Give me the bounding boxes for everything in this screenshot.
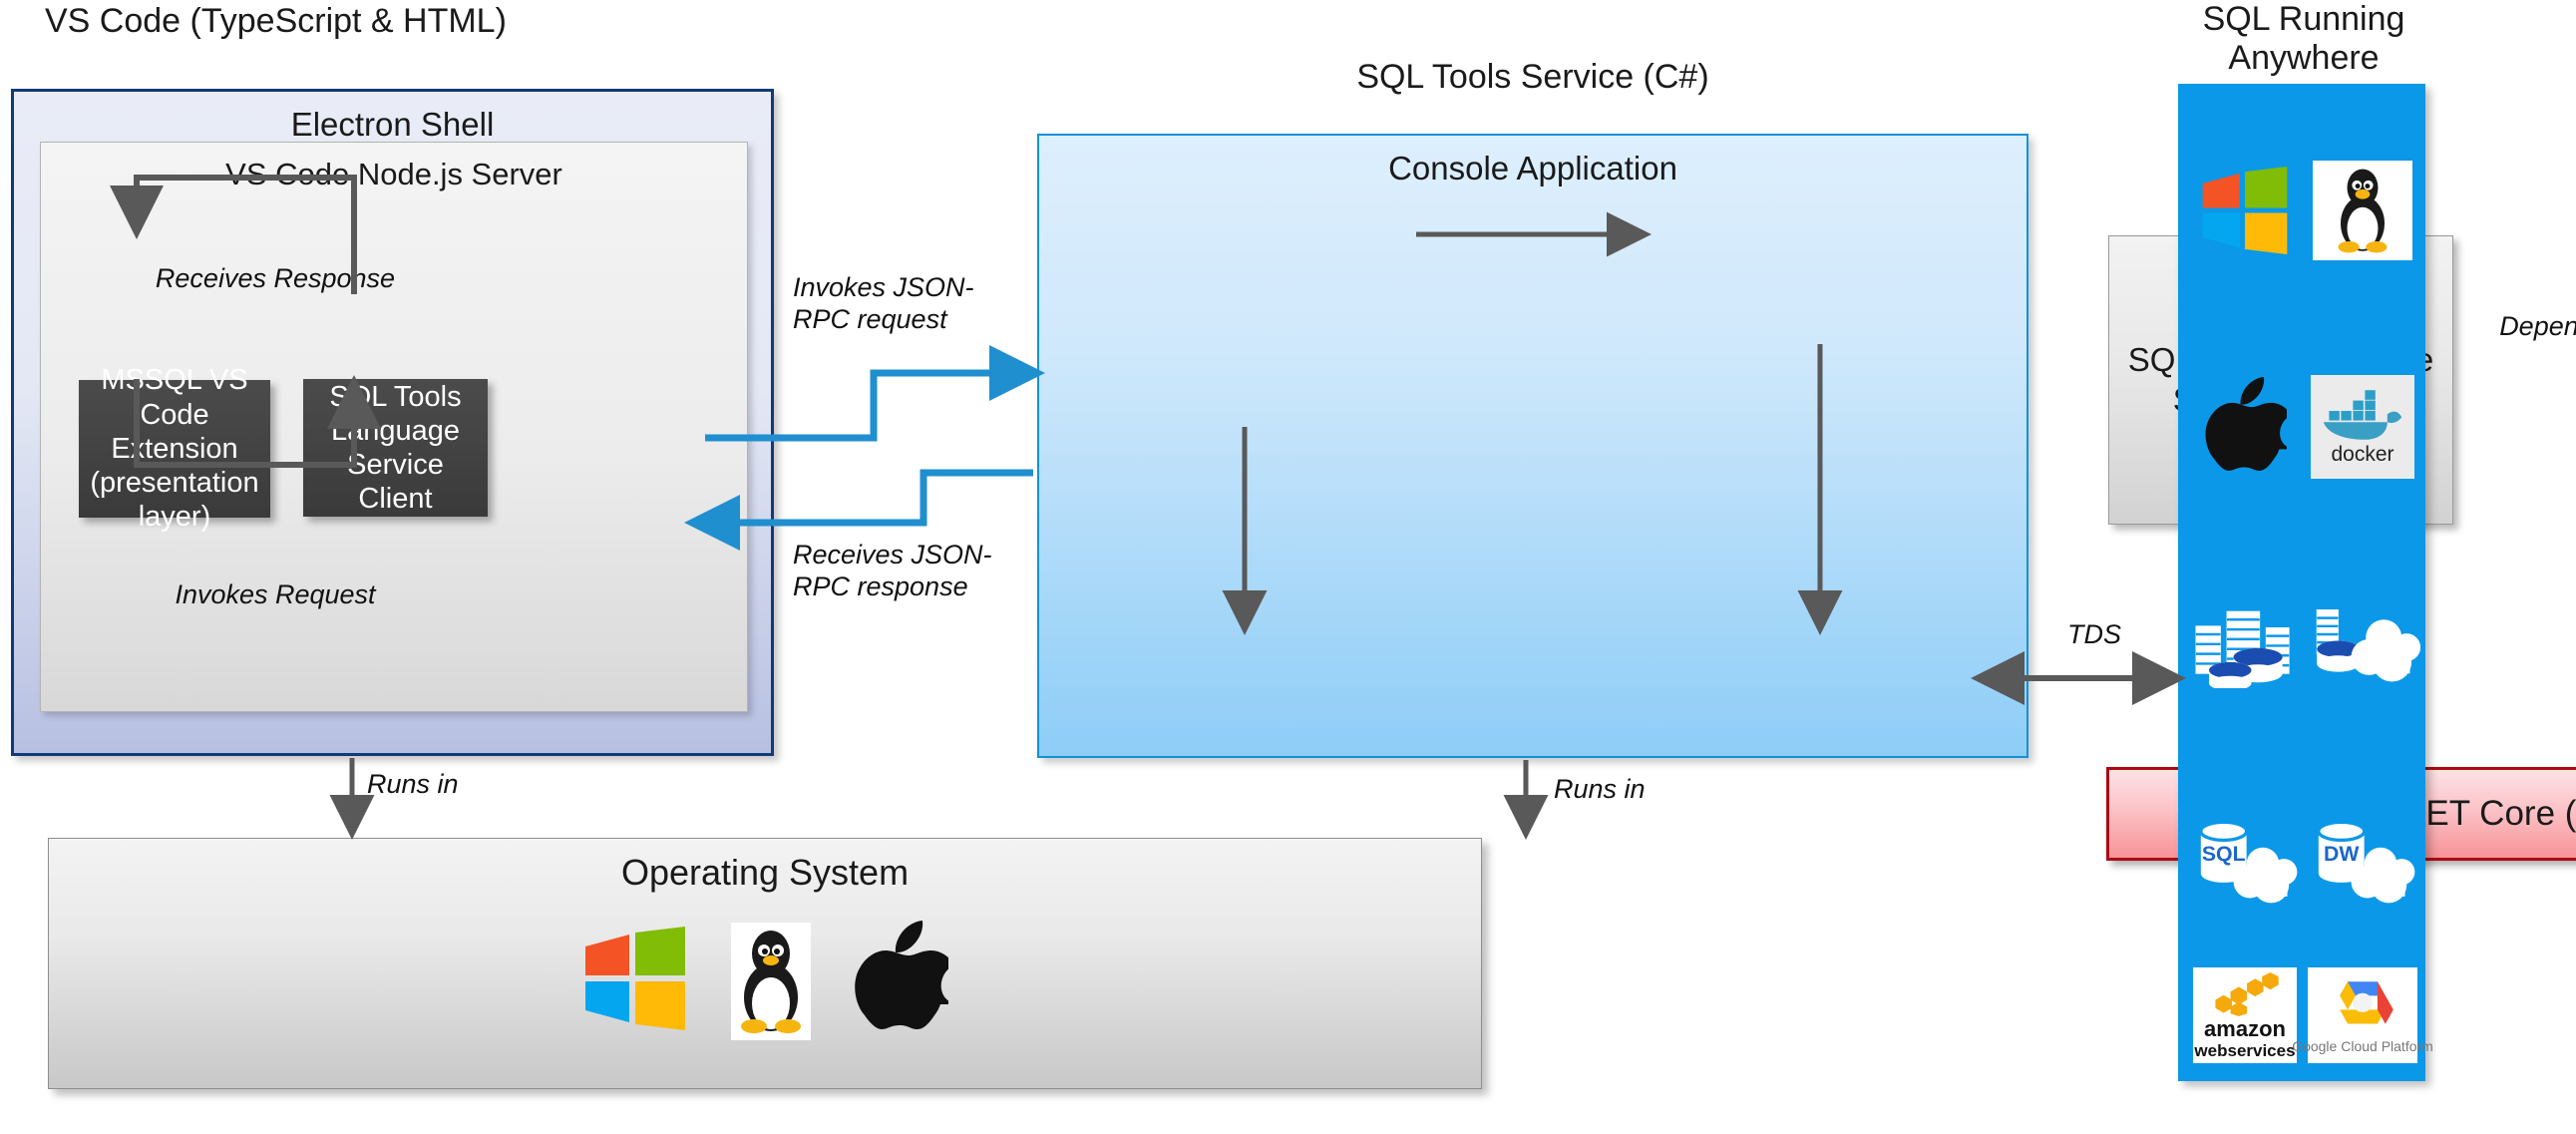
mssql-vscode-extension-box[interactable]: MSSQL VS Code Extension (presentation la…	[79, 380, 270, 518]
sql-tile-docker: docker	[2311, 375, 2414, 479]
vscode-node-server-label: VS Code Node.js Server	[41, 157, 747, 192]
sql-tile-azure-sql-db: SQL	[2186, 815, 2304, 905]
aws-caption-top: amazon	[2204, 1018, 2286, 1040]
sql-tile-gcp: Google Cloud Platform	[2308, 967, 2417, 1063]
sql-anywhere-logo-grid: docker	[2178, 84, 2425, 1081]
sql-tile-windows	[2199, 167, 2291, 254]
depends-on-smo-label: Depends on	[2497, 310, 2576, 342]
operating-system-label: Operating System	[49, 852, 1481, 894]
runs-in-service-label: Runs in	[1554, 773, 1723, 805]
svg-text:DW: DW	[2324, 841, 2360, 865]
tds-label: TDS	[2067, 618, 2177, 650]
aws-caption-bottom: webservices	[2194, 1042, 2295, 1059]
service-column-heading: SQL Tools Service (C#)	[1037, 58, 2028, 97]
apple-logo	[853, 921, 948, 1041]
receives-json-rpc-response-label: Receives JSON-RPC response	[793, 539, 1007, 603]
sql-tile-private-cloud	[2304, 598, 2421, 688]
runs-in-vscode-label: Runs in	[367, 768, 537, 800]
operating-system-container: Operating System	[48, 838, 1482, 1089]
vscode-node-server-container: VS Code Node.js Server MSSQL VS Code Ext…	[40, 142, 748, 712]
operating-system-logos	[49, 921, 1481, 1041]
invokes-json-rpc-request-label: Invokes JSON-RPC request	[793, 271, 1007, 336]
windows-logo	[581, 927, 689, 1035]
console-application-container: Console Application SQL Tools Language S…	[1037, 134, 2028, 758]
sql-tile-apple	[2203, 377, 2287, 477]
sql-anywhere-heading: SQL Running Anywhere	[2154, 0, 2453, 78]
linux-tux-logo	[731, 923, 811, 1040]
receives-response-label: Receives Response	[151, 262, 400, 294]
sql-tile-on-premises	[2186, 598, 2304, 688]
console-application-label: Console Application	[1039, 150, 2026, 188]
invokes-request-label: Invokes Request	[151, 578, 400, 610]
gcp-caption: Google Cloud Platform	[2292, 1038, 2433, 1054]
sql-running-anywhere-panel: docker	[2178, 84, 2425, 1081]
sql-tile-linux	[2313, 161, 2412, 260]
sql-tools-language-service-client-box[interactable]: SQL Tools Language Service Client	[303, 379, 488, 517]
docker-caption: docker	[2331, 443, 2393, 467]
svg-text:SQL: SQL	[2202, 841, 2246, 865]
sql-tile-aws: amazon webservices	[2193, 967, 2297, 1063]
electron-shell-label: Electron Shell	[14, 106, 771, 144]
vscode-column-heading: VS Code (TypeScript & HTML)	[10, 2, 733, 41]
electron-shell-container: Electron Shell VS Code Node.js Server MS…	[11, 89, 774, 756]
sql-tile-azure-sql-dw: DW	[2304, 815, 2421, 905]
